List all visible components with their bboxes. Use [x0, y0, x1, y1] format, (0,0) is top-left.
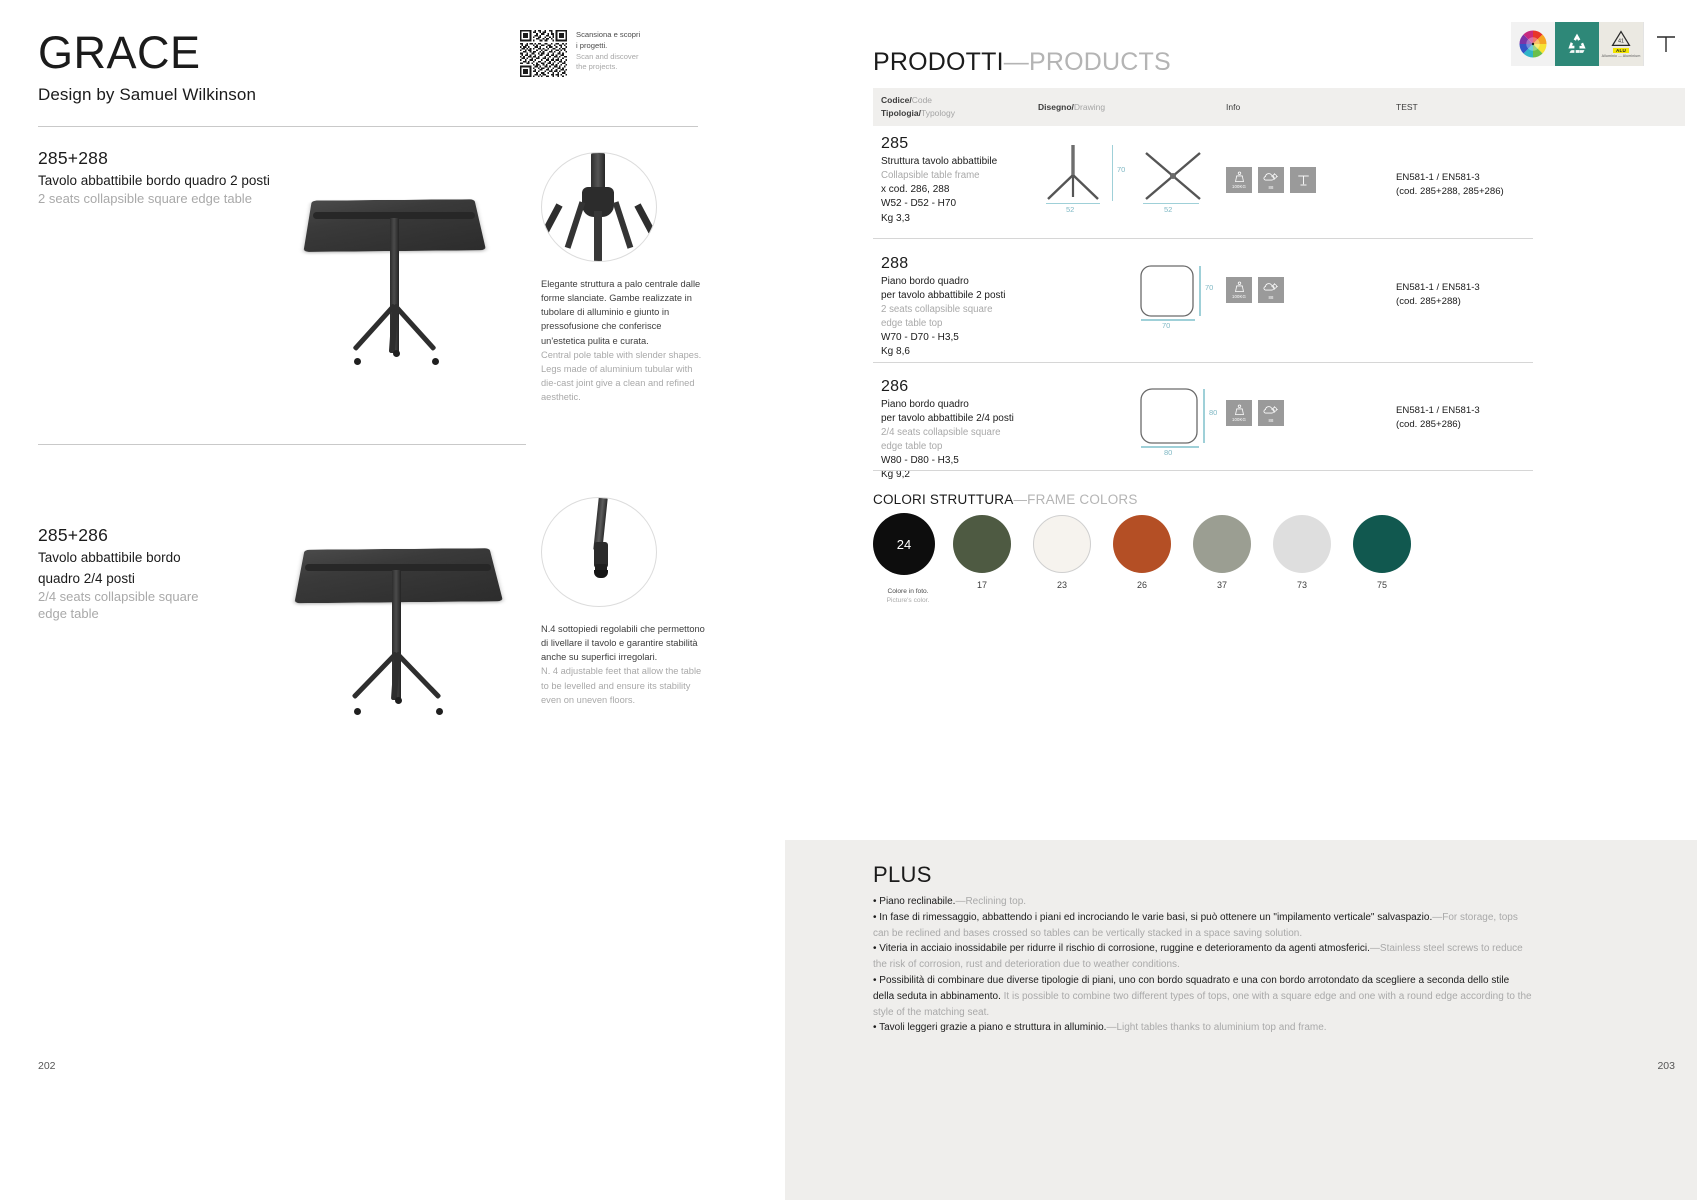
swatch-number: 17 — [953, 580, 1011, 590]
table-foot-back — [393, 350, 400, 357]
product-name-en-1: 2/4 seats collapsible square — [38, 588, 198, 605]
product-block-285-288: 285+288 Tavolo abbattibile bordo quadro … — [38, 148, 270, 207]
weather-glyph-icon — [1263, 171, 1279, 184]
weight-icon: 100KG — [1226, 167, 1252, 193]
row-product-code: 286 — [881, 378, 1038, 396]
plus-list: • Piano reclinabile.—Reclining top. • In… — [873, 894, 1533, 1036]
product-photo-285-286 — [280, 518, 530, 718]
dim-width-288: 70 — [1162, 321, 1170, 330]
header-drawing: Disegno/Drawing — [1038, 101, 1226, 114]
plus-item-en: —Reclining top. — [955, 896, 1026, 907]
weather-icon: 88 — [1258, 167, 1284, 193]
alu-chip-label: ALU — [1613, 48, 1629, 53]
header-test: TEST — [1396, 101, 1576, 114]
product-code: 285+286 — [38, 525, 198, 546]
header-drawing-it: Disegno/ — [1038, 102, 1074, 112]
dim-height-286: 80 — [1209, 408, 1217, 417]
swatch-number: 73 — [1273, 580, 1331, 590]
row-test-cell: EN581-1 / EN581-3 (cod. 285+288, 285+286… — [1396, 135, 1576, 226]
detail-caption-2-en: N. 4 adjustable feet that allow the tabl… — [541, 664, 707, 706]
detail-caption-1-en: Central pole table with slender shapes. … — [541, 348, 707, 405]
plus-panel: PLUS • Piano reclinabile.—Reclining top.… — [785, 840, 1697, 1200]
plus-item-it: • Tavoli leggeri grazie a piano e strutt… — [873, 1022, 1106, 1033]
aluminium-triangle-icon: 41 — [1611, 30, 1631, 47]
detail-photo-foot — [541, 497, 657, 607]
row-drawing-cell: 70 52 52 — [1038, 135, 1226, 226]
plus-item: • Possibilità di combinare due diverse t… — [873, 973, 1533, 1020]
row-code-cell: 286 Piano bordo quadro per tavolo abbatt… — [873, 378, 1038, 483]
info-icon-group: 100KG 88 — [1226, 400, 1396, 426]
product-name-en-2: edge table — [38, 605, 198, 622]
weight-icon-label: 100KG — [1232, 417, 1246, 422]
weather-icon-label: 88 — [1269, 418, 1274, 423]
row-divider — [873, 238, 1533, 239]
table-foot-right — [436, 708, 443, 715]
frame-colors-title-it: COLORI STRUTTURA — [873, 492, 1013, 507]
divider-middle — [38, 444, 526, 445]
qr-caption-it-1: Scansiona e scopri — [576, 30, 666, 41]
weight-icon: 100KG — [1226, 400, 1252, 426]
header-drawing-en: Drawing — [1074, 102, 1105, 112]
products-table-header: Codice/Code Tipologia/Typology Disegno/D… — [873, 88, 1685, 126]
test-line-2: (cod. 285+288) — [1396, 295, 1576, 309]
swatch-23[interactable]: 23 — [1033, 515, 1091, 590]
frame-colors-title: COLORI STRUTTURA—FRAME COLORS — [873, 492, 1138, 507]
table-foot-right — [432, 358, 439, 365]
swatch-note-it: Colore in foto. — [873, 587, 943, 596]
row-drawing-cell: 70 70 — [1038, 255, 1226, 360]
plus-item: • Viteria in acciaio inossidabile per ri… — [873, 941, 1533, 973]
dim-width-286: 80 — [1164, 448, 1172, 457]
swatch-17[interactable]: 17 — [953, 515, 1011, 590]
frame-colors-title-sep: — — [1013, 492, 1027, 507]
weather-glyph-icon — [1263, 404, 1279, 417]
row-test-cell: EN581-1 / EN581-3 (cod. 285+288) — [1396, 255, 1576, 360]
title-block: GRACE Design by Samuel Wilkinson — [38, 30, 256, 105]
header-code-en: Code — [912, 95, 932, 105]
dim-line-horizontal — [1046, 203, 1100, 204]
swatch-number: 37 — [1193, 580, 1251, 590]
weight-glyph-icon — [1233, 404, 1246, 416]
plus-item-it: • Piano reclinabile. — [873, 896, 955, 907]
row-desc-it-1: Piano bordo quadro — [881, 275, 1038, 289]
row-desc-it-2: per tavolo abbattibile 2 posti — [881, 289, 1038, 303]
frame-top-view-drawing — [1138, 147, 1208, 209]
swatch-dot[interactable] — [1273, 515, 1331, 573]
detail-caption-2: N.4 sottopiedi regolabili che permettono… — [541, 622, 707, 707]
swatch-inner-label: 24 — [897, 537, 911, 552]
swatch-dot[interactable] — [1113, 515, 1171, 573]
aluminium-badge: 41 ALU Alluminio — Aluminium — [1599, 22, 1643, 66]
swatch-75[interactable]: 75 — [1353, 515, 1411, 590]
section-title-it: PRODOTTI — [873, 48, 1004, 76]
test-line-1: EN581-1 / EN581-3 — [1396, 404, 1576, 418]
weather-icon: 88 — [1258, 277, 1284, 303]
product-block-285-286: 285+286 Tavolo abbattibile bordo quadro … — [38, 525, 198, 622]
row-desc-it: Struttura tavolo abbattibile — [881, 155, 1038, 169]
product-name-it-1: Tavolo abbattibile bordo — [38, 549, 198, 567]
row-xcod: x cod. 286, 288 — [881, 183, 1038, 198]
swatch-dot[interactable] — [1193, 515, 1251, 573]
detail-caption-1-it: Elegante struttura a palo centrale dalle… — [541, 277, 707, 348]
weather-icon: 88 — [1258, 400, 1284, 426]
swatch-73[interactable]: 73 — [1273, 515, 1331, 590]
dim-line-vertical — [1112, 145, 1113, 201]
recycle-icon — [1564, 31, 1590, 57]
weight-icon: 100KG — [1226, 277, 1252, 303]
header-info: Info — [1226, 101, 1396, 114]
divider-top — [38, 126, 698, 127]
right-page: PRODOTTI—PRODUCTS — [848, 0, 1697, 1200]
section-title-en: PRODUCTS — [1029, 48, 1171, 76]
tabletop-square-drawing — [1138, 386, 1202, 448]
row-dims: W80 - D80 - H3,5 — [881, 454, 1038, 469]
weight-glyph-icon — [1233, 171, 1246, 183]
plus-item: • Tavoli leggeri grazie a piano e strutt… — [873, 1020, 1533, 1036]
frame-color-swatches: 24 Colore in foto. Picture's color. 17 2… — [873, 515, 1411, 590]
swatch-dot[interactable]: 24 — [873, 513, 935, 575]
test-badge — [1643, 22, 1687, 66]
plus-item: • Piano reclinabile.—Reclining top. — [873, 894, 1533, 910]
frame-side-view-drawing — [1038, 141, 1108, 211]
info-icon-group: 100KG 88 — [1226, 167, 1396, 193]
page-number-right: 203 — [1657, 1060, 1675, 1072]
dim-height-285: 70 — [1117, 165, 1125, 174]
row-desc-it-1: Piano bordo quadro — [881, 398, 1038, 412]
aluminium-badge-label: Alluminio — Aluminium — [1602, 54, 1641, 58]
swatch-37[interactable]: 37 — [1193, 515, 1251, 590]
swatch-24[interactable]: 24 Colore in foto. Picture's color. — [873, 515, 931, 575]
row-divider — [873, 362, 1533, 363]
swatch-note: Colore in foto. Picture's color. — [873, 587, 943, 605]
dim-line-vertical — [1203, 389, 1205, 443]
swatch-note-en: Picture's color. — [873, 596, 943, 605]
swatch-dot[interactable] — [953, 515, 1011, 573]
table-row: 285 Struttura tavolo abbattibile Collaps… — [873, 135, 1685, 226]
product-name-en: 2 seats collapsible square edge table — [38, 190, 270, 207]
designer-credit: Design by Samuel Wilkinson — [38, 85, 256, 105]
dim-line-vertical — [1199, 266, 1201, 316]
row-divider — [873, 470, 1533, 471]
swatch-dot[interactable] — [1353, 515, 1411, 573]
table-row: 286 Piano bordo quadro per tavolo abbatt… — [873, 378, 1685, 483]
row-dims: W52 - D52 - H70 — [881, 197, 1038, 212]
plus-item: • In fase di rimessaggio, abbattendo i p… — [873, 910, 1533, 942]
row-dims: W70 - D70 - H3,5 — [881, 331, 1038, 346]
plus-item-en: —Light tables thanks to aluminium top an… — [1106, 1022, 1326, 1033]
qr-code-icon[interactable] — [520, 30, 567, 77]
plus-item-it: • Viteria in acciaio inossidabile per ri… — [873, 943, 1370, 954]
stability-test-icon — [1290, 167, 1316, 193]
row-code-cell: 288 Piano bordo quadro per tavolo abbatt… — [873, 255, 1038, 360]
section-title-sep: — — [1004, 48, 1029, 76]
product-name-it-2: quadro 2/4 posti — [38, 570, 198, 588]
tabletop-square-drawing — [1138, 263, 1198, 321]
row-weight: Kg 3,3 — [881, 212, 1038, 227]
qr-caption-it-2: i progetti. — [576, 41, 666, 52]
dim-height-288: 70 — [1205, 283, 1213, 292]
header-code-it: Codice/ — [881, 95, 912, 105]
page-number-left: 202 — [38, 1060, 56, 1072]
weight-glyph-icon — [1233, 281, 1246, 293]
dim-width-285: 52 — [1066, 205, 1074, 214]
page-title: GRACE — [38, 30, 256, 75]
weather-glyph-icon — [1263, 281, 1279, 294]
test-line-1: EN581-1 / EN581-3 — [1396, 281, 1576, 295]
row-info-cell: 100KG 88 — [1226, 378, 1396, 483]
test-line-2: (cod. 285+288, 285+286) — [1396, 185, 1576, 199]
row-desc-en-1: 2/4 seats collapsible square — [881, 426, 1038, 440]
header-typology-en: Typology — [921, 108, 955, 118]
row-info-cell: 100KG 88 — [1226, 135, 1396, 226]
row-desc-en-2: edge table top — [881, 317, 1038, 331]
swatch-number: 75 — [1353, 580, 1411, 590]
detail-caption-1: Elegante struttura a palo centrale dalle… — [541, 277, 707, 404]
product-name-it: Tavolo abbattibile bordo quadro 2 posti — [38, 172, 270, 190]
dim-top-285: 52 — [1164, 205, 1172, 214]
row-code-cell: 285 Struttura tavolo abbattibile Collaps… — [873, 135, 1038, 226]
catalog-spread: GRACE Design by Samuel Wilkinson — [0, 0, 1697, 1200]
test-line-2: (cod. 285+286) — [1396, 418, 1576, 432]
qr-caption-en-2: the projects. — [576, 62, 666, 73]
weather-icon-label: 88 — [1269, 185, 1274, 190]
weight-icon-label: 100KG — [1232, 184, 1246, 189]
product-code: 285+288 — [38, 148, 270, 169]
row-desc-en: Collapsible table frame — [881, 169, 1038, 183]
swatch-26[interactable]: 26 — [1113, 515, 1171, 590]
section-title: PRODOTTI—PRODUCTS — [873, 48, 1171, 77]
header-test-label: TEST — [1396, 102, 1418, 112]
header-typology-it: Tipologia/ — [881, 108, 921, 118]
plus-title: PLUS — [873, 862, 1533, 888]
product-photo-285-288 — [280, 170, 510, 370]
stability-test-icon — [1654, 32, 1678, 56]
weight-icon-label: 100KG — [1232, 294, 1246, 299]
header-info-label: Info — [1226, 102, 1240, 112]
svg-text:41: 41 — [1618, 38, 1624, 44]
info-icon-group: 100KG 88 — [1226, 277, 1396, 303]
row-desc-en-1: 2 seats collapsible square — [881, 303, 1038, 317]
detail-photo-joint — [541, 152, 657, 262]
row-test-cell: EN581-1 / EN581-3 (cod. 285+286) — [1396, 378, 1576, 483]
table-foot-left — [354, 358, 361, 365]
row-desc-en-2: edge table top — [881, 440, 1038, 454]
table-leg-right — [395, 651, 442, 699]
swatch-dot[interactable] — [1033, 515, 1091, 573]
row-weight: Kg 8,6 — [881, 345, 1038, 360]
weather-icon-label: 88 — [1269, 295, 1274, 300]
row-product-code: 285 — [881, 135, 1038, 153]
test-line-1: EN581-1 / EN581-3 — [1396, 171, 1576, 185]
swatch-number: 23 — [1033, 580, 1091, 590]
plus-item-it: • In fase di rimessaggio, abbattendo i p… — [873, 912, 1432, 923]
left-page: GRACE Design by Samuel Wilkinson — [0, 0, 848, 1200]
detail-caption-2-it: N.4 sottopiedi regolabili che permettono… — [541, 622, 707, 664]
table-foot-back — [395, 697, 402, 704]
row-product-code: 288 — [881, 255, 1038, 273]
recycle-badge — [1555, 22, 1599, 66]
row-info-cell: 100KG 88 — [1226, 255, 1396, 360]
table-row: 288 Piano bordo quadro per tavolo abbatt… — [873, 255, 1685, 360]
qr-caption: Scansiona e scopri i progetti. Scan and … — [576, 30, 666, 73]
plus-content: PLUS • Piano reclinabile.—Reclining top.… — [873, 862, 1533, 1036]
qr-caption-en-1: Scan and discover — [576, 52, 666, 63]
swatch-number: 26 — [1113, 580, 1171, 590]
table-leg-right — [393, 303, 437, 351]
row-drawing-cell: 80 80 — [1038, 378, 1226, 483]
frame-colors-title-en: FRAME COLORS — [1027, 492, 1137, 507]
color-wheel-icon — [1518, 29, 1548, 59]
stability-glyph-icon — [1296, 173, 1311, 188]
color-wheel-badge — [1511, 22, 1555, 66]
row-desc-it-2: per tavolo abbattibile 2/4 posti — [881, 412, 1038, 426]
qr-block[interactable]: Scansiona e scopri i progetti. Scan and … — [520, 30, 666, 77]
table-foot-left — [354, 708, 361, 715]
certification-badges: 41 ALU Alluminio — Aluminium — [1511, 22, 1687, 66]
dim-line-horizontal-2 — [1143, 203, 1199, 204]
header-code-typology: Codice/Code Tipologia/Typology — [873, 94, 1038, 120]
